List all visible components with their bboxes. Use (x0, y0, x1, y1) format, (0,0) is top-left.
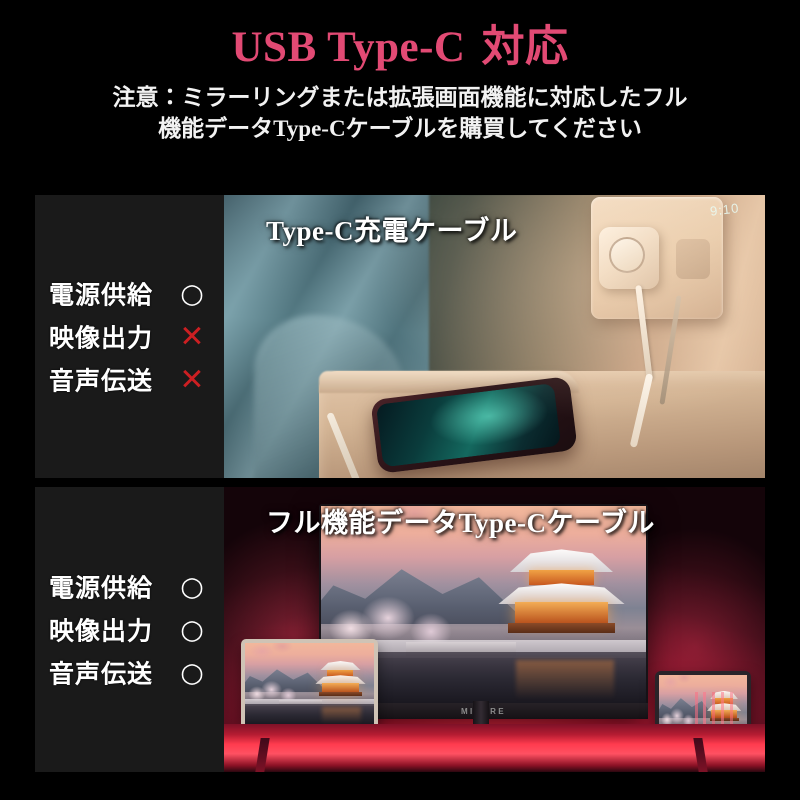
subtitle-line-2: 機能データType-Cケーブルを購買してください (75, 113, 725, 144)
page-title: USB Type-C対応 (0, 22, 800, 74)
temple-upper-body (327, 670, 353, 676)
spec-list-charging-cable: 電源供給 ○ 映像出力 ✕ 音声伝送 ✕ (49, 272, 239, 401)
subtitle-line-1: 注意：ミラーリングまたは拡張画面機能に対応したフル (75, 82, 725, 113)
circle-mark-icon: ○ (169, 616, 215, 643)
page-title-jp: 対応 (481, 24, 568, 71)
temple-upper-roof (510, 549, 613, 572)
circle-mark-icon: ○ (169, 659, 215, 686)
subtitle: 注意：ミラーリングまたは拡張画面機能に対応したフル 機能データType-Cケーブ… (75, 82, 725, 144)
laptop-screen (241, 639, 378, 729)
spec-label-power: 電源供給 (49, 569, 169, 605)
header: USB Type-C対応 注意：ミラーリングまたは拡張画面機能に対応したフル 機… (0, 0, 800, 144)
comparison-panel-charging-cable: 電源供給 ○ 映像出力 ✕ 音声伝送 ✕ (35, 195, 765, 478)
temple-lower-roof (498, 583, 624, 604)
temple-upper-body (529, 570, 595, 585)
wallpaper-temple (503, 549, 620, 644)
laptop-wallpaper-pagoda (245, 643, 374, 725)
comparison-panel-full-function-cable: 電源供給 ○ 映像出力 ○ 音声伝送 ○ (35, 487, 765, 772)
temple-base (508, 623, 616, 632)
wallpaper-temple (317, 661, 363, 700)
cross-mark-icon: ✕ (169, 323, 215, 350)
spec-label-audio: 音声伝送 (49, 655, 169, 691)
spec-row: 電源供給 ○ (49, 565, 239, 608)
cross-mark-icon: ✕ (169, 366, 215, 393)
temple-lower-body (515, 602, 609, 625)
page-title-en: USB Type-C (232, 24, 466, 71)
photo-full-function-cable: MINFRE (224, 487, 765, 772)
circle-mark-icon: ○ (169, 573, 215, 600)
temple-base (319, 692, 362, 696)
spec-row: 映像出力 ✕ (49, 315, 239, 358)
photo-caption-full-function-cable: フル機能データType-Cケーブル (266, 501, 655, 540)
spec-row: 音声伝送 ○ (49, 651, 239, 694)
spec-label-video: 映像出力 (49, 612, 169, 648)
spec-label-video: 映像出力 (49, 319, 169, 355)
spec-row: 電源供給 ○ (49, 272, 239, 315)
spec-row: 映像出力 ○ (49, 608, 239, 651)
wallpaper-reflection (322, 707, 361, 723)
wallpaper-reflection (516, 660, 614, 699)
spec-list-full-function-cable: 電源供給 ○ 映像出力 ○ 音声伝送 ○ (49, 565, 239, 694)
desk-led-light-bar (224, 724, 765, 772)
photo-charging-cable: 9:10 Type-C充電ケーブル (224, 195, 765, 478)
background-decor-bars (691, 692, 743, 726)
spec-row: 音声伝送 ✕ (49, 358, 239, 401)
spec-label-power: 電源供給 (49, 276, 169, 312)
spec-label-audio: 音声伝送 (49, 362, 169, 398)
circle-mark-icon: ○ (169, 280, 215, 307)
photo-caption-charging-cable: Type-C充電ケーブル (266, 209, 517, 248)
wallpaper-cherry-blossom (248, 643, 307, 668)
